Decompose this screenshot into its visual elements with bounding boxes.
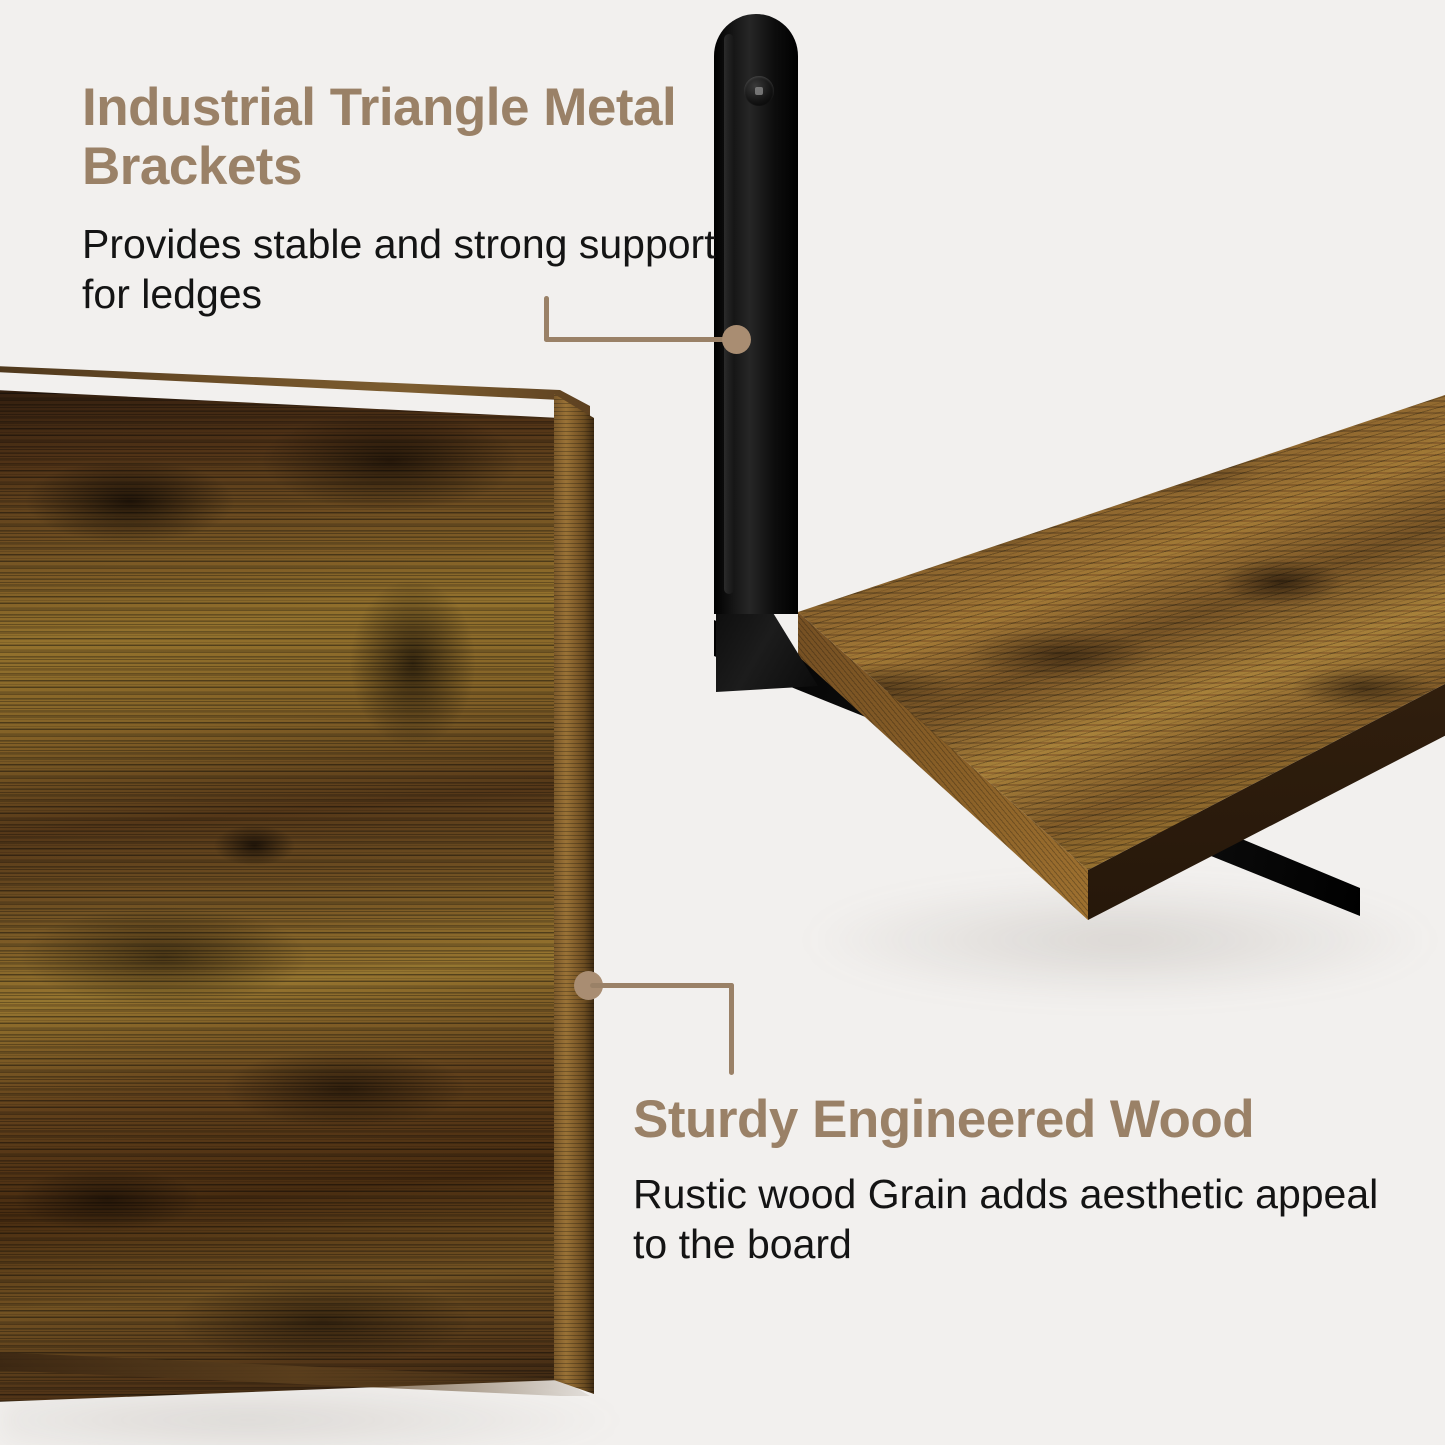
product-infographic: Industrial Triangle Metal Brackets Provi…: [0, 0, 1445, 1445]
floating-shelf-slab: [770, 390, 1445, 950]
leader-line-wood-vertical: [729, 983, 734, 1075]
screw-hole-icon: [744, 76, 774, 106]
board-face: [0, 390, 560, 1402]
shelf-top-surface: [770, 390, 1445, 870]
callout-metal-brackets: Industrial Triangle Metal Brackets Provi…: [82, 78, 722, 319]
callout-headline-wood: Sturdy Engineered Wood: [633, 1090, 1423, 1149]
callout-engineered-wood: Sturdy Engineered Wood Rustic wood Grain…: [633, 1090, 1423, 1269]
edge-grain-texture: [554, 390, 594, 1420]
callout-subtext-wood: Rustic wood Grain adds aesthetic appeal …: [633, 1169, 1423, 1269]
shelf-knot-blotches: [770, 390, 1445, 870]
leader-line-brackets-horizontal: [544, 337, 740, 342]
leader-dot-brackets: [722, 325, 751, 354]
wood-knot-blotches: [0, 390, 560, 1402]
leader-line-wood-horizontal: [590, 983, 734, 988]
callout-headline-brackets: Industrial Triangle Metal Brackets: [82, 78, 722, 197]
board-side-edge: [554, 390, 594, 1420]
bracket-sheen: [724, 34, 734, 594]
upright-wood-board: [0, 366, 594, 1428]
callout-subtext-brackets: Provides stable and strong support for l…: [82, 219, 722, 319]
